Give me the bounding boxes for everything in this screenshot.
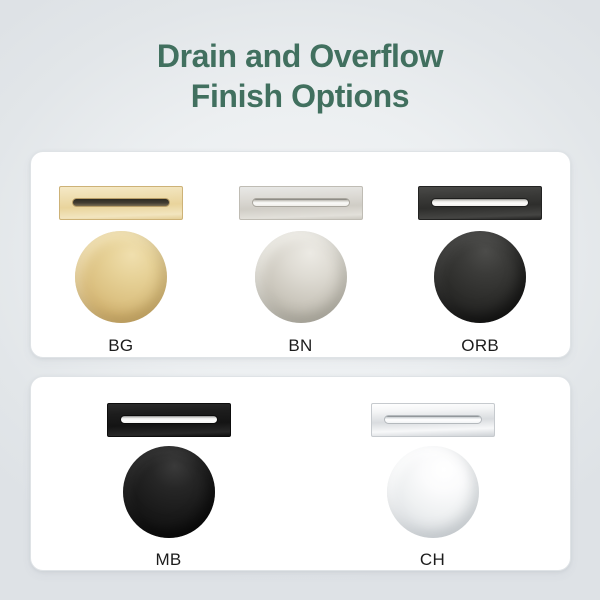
finish-row-2: MB CH [31, 377, 570, 570]
overflow-plate-orb [418, 186, 542, 220]
drain-knob-bg-icon [75, 231, 167, 323]
finish-option-ch[interactable]: CH [349, 377, 517, 570]
finish-option-orb[interactable]: ORB [397, 152, 563, 357]
drain-knob-mb-icon [123, 446, 215, 538]
drain-knob-bn-icon [255, 231, 347, 323]
finish-card-row-1: BG BN ORB [30, 151, 571, 358]
overflow-plate-mb [107, 403, 231, 437]
finish-label-orb: ORB [461, 336, 499, 356]
finish-label-bn: BN [288, 336, 312, 356]
page-title-line-1: Drain and Overflow [0, 36, 600, 76]
finish-card-row-2: MB CH [30, 376, 571, 571]
page-title: Drain and Overflow Finish Options [0, 36, 600, 116]
plate-slot-icon [72, 198, 170, 207]
plate-slot-icon [120, 415, 218, 424]
finish-row-1: BG BN ORB [31, 152, 570, 357]
page-title-line-2: Finish Options [0, 76, 600, 116]
overflow-plate-ch [371, 403, 495, 437]
finish-label-bg: BG [108, 336, 133, 356]
drain-knob-orb-icon [434, 231, 526, 323]
overflow-plate-bn [239, 186, 363, 220]
plate-slot-icon [384, 415, 482, 424]
finish-label-mb: MB [155, 550, 181, 570]
overflow-plate-bg [59, 186, 183, 220]
drain-knob-ch-icon [387, 446, 479, 538]
plate-slot-icon [431, 198, 529, 207]
finish-option-bg[interactable]: BG [38, 152, 204, 357]
finish-option-mb[interactable]: MB [85, 377, 253, 570]
finish-options-page: Drain and Overflow Finish Options BG BN [0, 0, 600, 600]
plate-slot-icon [252, 198, 350, 207]
finish-label-ch: CH [420, 550, 445, 570]
finish-option-bn[interactable]: BN [218, 152, 384, 357]
